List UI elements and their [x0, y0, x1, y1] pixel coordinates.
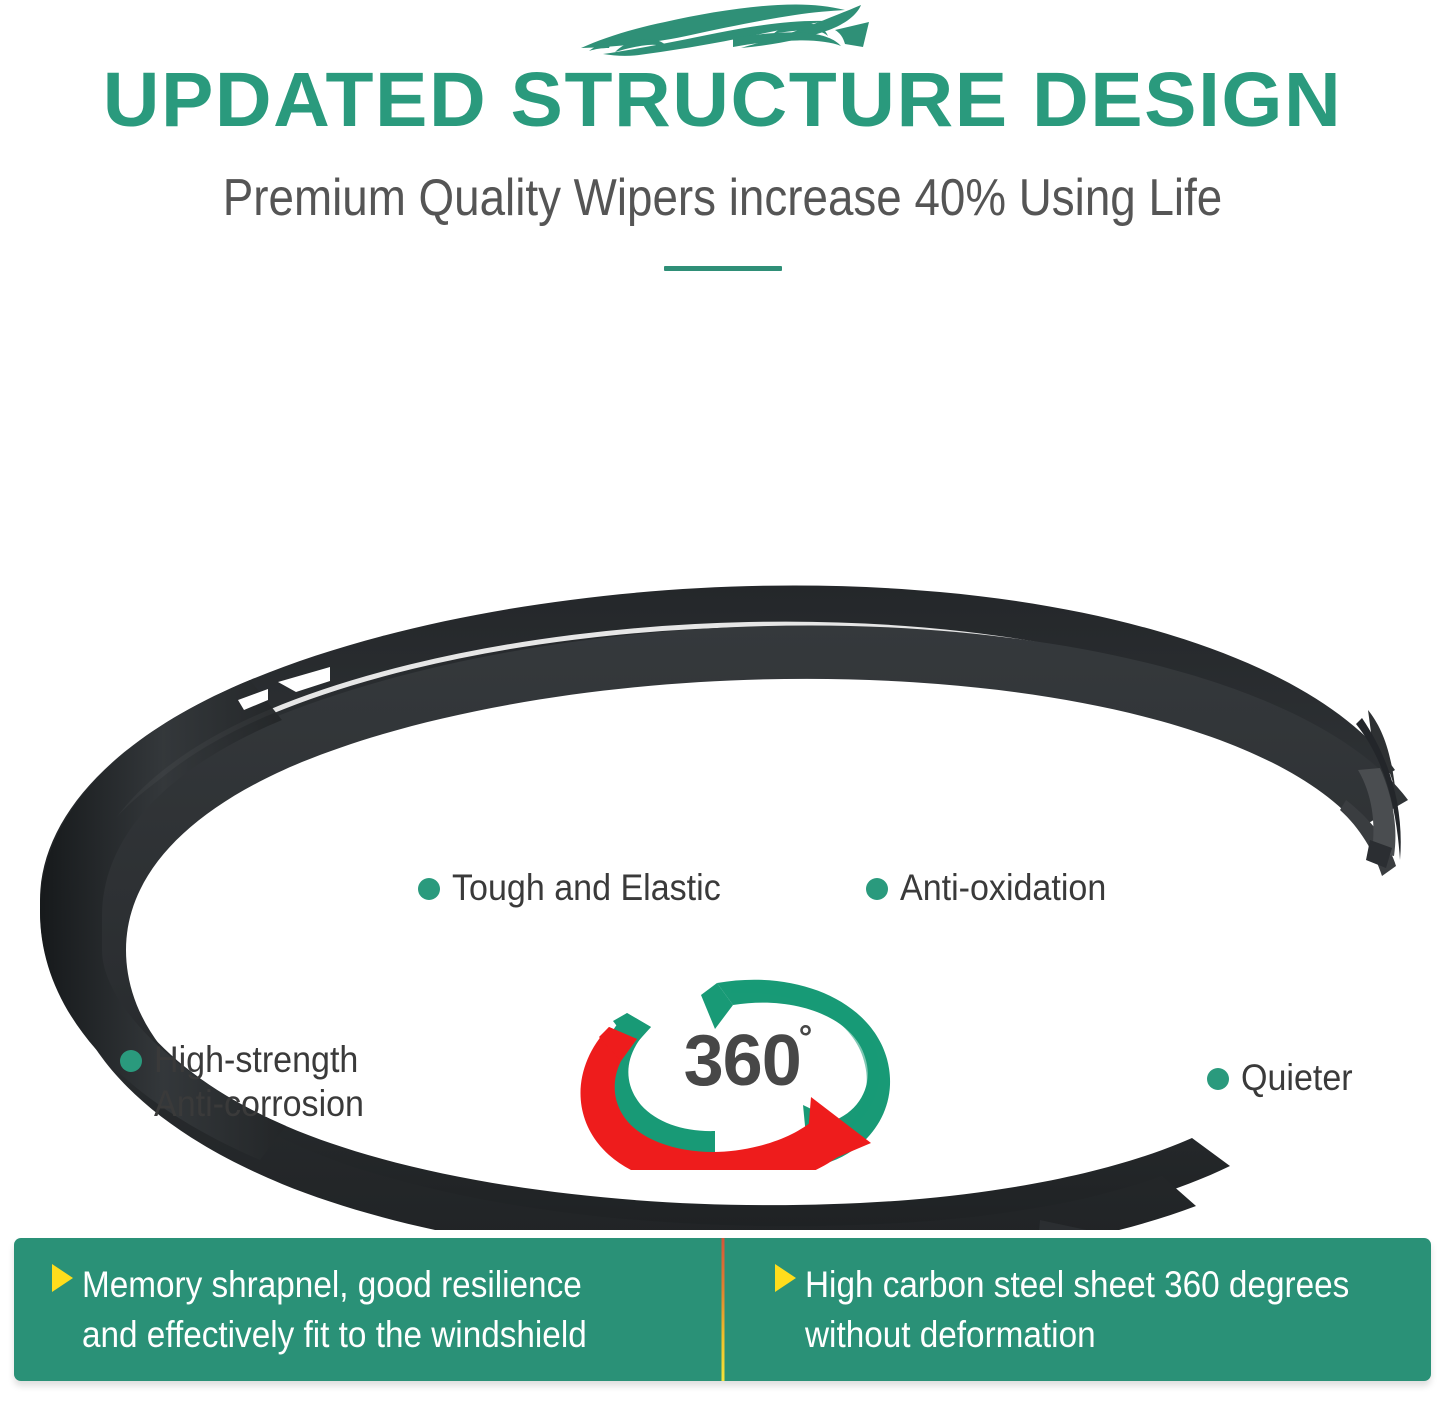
feature-quieter: Quieter: [1207, 1056, 1362, 1100]
page-subtitle: Premium Quality Wipers increase 40% Usin…: [87, 168, 1359, 228]
title-underline-divider: [664, 266, 782, 271]
feature-label-line2: Anti-corrosion: [154, 1082, 364, 1126]
feature-anti-oxidation: Anti-oxidation: [866, 866, 1124, 910]
feature-high-strength-anti-corrosion: High-strength Anti-corrosion: [120, 1038, 382, 1125]
banner-left-line1: Memory shrapnel, good resilience: [82, 1264, 582, 1305]
banner-right-line1: High carbon steel sheet 360 degrees: [805, 1264, 1349, 1305]
bullet-dot-icon: [120, 1050, 142, 1072]
product-stage: Tough and Elastic Anti-oxidation High-st…: [0, 300, 1445, 1230]
feature-label: Quieter: [1241, 1056, 1353, 1100]
banner-left-text: Memory shrapnel, good resilience and eff…: [82, 1260, 587, 1358]
banner-right-line2: without deformation: [805, 1310, 1349, 1359]
header: UPDATED STRUCTURE DESIGN Premium Quality…: [0, 0, 1445, 300]
feature-label-line1: High-strength: [154, 1039, 358, 1080]
triangle-marker-icon: [52, 1264, 73, 1292]
triangle-marker-icon: [775, 1264, 796, 1292]
bullet-dot-icon: [1207, 1068, 1229, 1090]
feature-label: Anti-oxidation: [900, 866, 1106, 910]
car-silhouette-icon: [573, 2, 873, 64]
feature-label: High-strength Anti-corrosion: [154, 1038, 364, 1125]
bottom-feature-banner: Memory shrapnel, good resilience and eff…: [14, 1238, 1431, 1381]
feature-label: Tough and Elastic: [452, 866, 721, 910]
360-rotation-arrows-icon: [565, 955, 925, 1170]
360-degree-badge: 360 °: [565, 955, 925, 1170]
bullet-dot-icon: [418, 878, 440, 900]
banner-left-line2: and effectively fit to the windshield: [82, 1310, 587, 1359]
page-title: UPDATED STRUCTURE DESIGN: [0, 60, 1445, 141]
banner-column-right: High carbon steel sheet 360 degrees with…: [723, 1238, 1432, 1381]
feature-tough-and-elastic: Tough and Elastic: [418, 866, 744, 910]
banner-right-text: High carbon steel sheet 360 degrees with…: [805, 1260, 1349, 1358]
bullet-dot-icon: [866, 878, 888, 900]
banner-column-left: Memory shrapnel, good resilience and eff…: [14, 1238, 723, 1381]
